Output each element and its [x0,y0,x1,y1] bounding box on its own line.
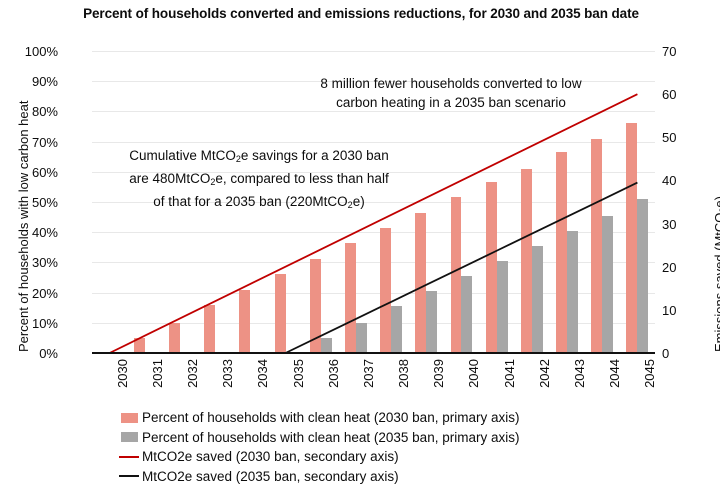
y-axis-right-tick-label: 20 [662,261,702,274]
legend-line-icon-shape [119,475,139,477]
x-axis-tick-label: 2035 [292,359,305,388]
legend-item[interactable]: MtCO2e saved (2030 ban, secondary axis) [118,447,638,467]
annotation-households-line2: carbon heating in a 2035 ban scenario [336,95,566,110]
y-axis-right-title-text: Emissions saved (MtCO [712,213,720,352]
y-axis-right-title: Emissions saved (MtCO2e) [712,196,720,352]
legend-item-label: MtCO2e saved (2030 ban, secondary axis) [142,447,399,467]
legend-item-label: MtCO2e saved (2035 ban, secondary axis) [142,467,399,487]
y-axis-left-title: Percent of households with low carbon he… [16,101,31,353]
legend-item[interactable]: MtCO2e saved (2035 ban, secondary axis) [118,467,638,487]
line-series [110,94,638,353]
annotation-savings-l2a: are 480MtCO [129,171,210,186]
x-axis-tick-label: 2032 [186,359,199,388]
x-axis-line [92,352,655,354]
y-axis-right-tick-label: 40 [662,174,702,187]
x-axis-tick-label: 2044 [608,359,621,388]
y-axis-right-tick-label: 70 [662,45,702,58]
x-axis-tick-label: 2030 [116,359,129,388]
x-axis-tick-label: 2041 [503,359,516,388]
legend-item[interactable]: Percent of households with clean heat (2… [118,428,638,448]
x-axis-tick-label: 2038 [397,359,410,388]
y-axis-right-tick-label: 10 [662,304,702,317]
legend-item-label: Percent of households with clean heat (2… [142,408,519,428]
x-axis-tick-label: 2037 [362,359,375,388]
legend-line-icon [118,456,140,458]
y-axis-left-tick-label: 90% [0,75,58,88]
x-axis-tick-label: 2040 [467,359,480,388]
y-axis-right-title-tail: e) [712,196,720,208]
chart-title: Percent of households converted and emis… [78,4,644,23]
y-axis-right-tick-label: 50 [662,131,702,144]
y-axis-left-tick-label: 100% [0,45,58,58]
legend-swatch-icon [118,413,140,423]
legend-swatch-icon-shape [121,432,138,442]
y-axis-right-tick-label: 30 [662,218,702,231]
x-axis-tick-label: 2036 [327,359,340,388]
y-axis-right-tick-label: 60 [662,88,702,101]
x-axis-tick-label: 2034 [256,359,269,388]
x-axis-tick-label: 2033 [221,359,234,388]
legend-line-icon [118,475,140,477]
annotation-savings-l2b: e, compared to less than half [215,171,388,186]
x-axis-tick-label: 2043 [573,359,586,388]
annotation-savings-l3a: of that for a 2035 ban (220MtCO [153,194,347,209]
chart-root: Percent of households converted and emis… [0,0,720,491]
x-axis-tick-label: 2042 [538,359,551,388]
legend-line-icon-shape [119,456,139,458]
y-axis-right-tick-label: 0 [662,347,702,360]
chart-legend: Percent of households with clean heat (2… [118,408,638,486]
annotation-households: 8 million fewer households converted to … [276,74,626,112]
annotation-households-line1: 8 million fewer households converted to … [320,76,581,91]
legend-swatch-icon-shape [121,413,138,423]
annotation-savings-l1b: e savings for a 2030 ban [241,148,389,163]
annotation-savings: Cumulative MtCO2e savings for a 2030 ban… [76,146,442,215]
legend-swatch-icon [118,432,140,442]
annotation-savings-l1a: Cumulative MtCO [129,148,236,163]
legend-item-label: Percent of households with clean heat (2… [142,428,519,448]
x-axis-tick-label: 2045 [643,359,656,388]
x-axis-tick-label: 2031 [151,359,164,388]
annotation-savings-l3b: e) [353,194,365,209]
x-axis-tick-label: 2039 [432,359,445,388]
legend-item[interactable]: Percent of households with clean heat (2… [118,408,638,428]
